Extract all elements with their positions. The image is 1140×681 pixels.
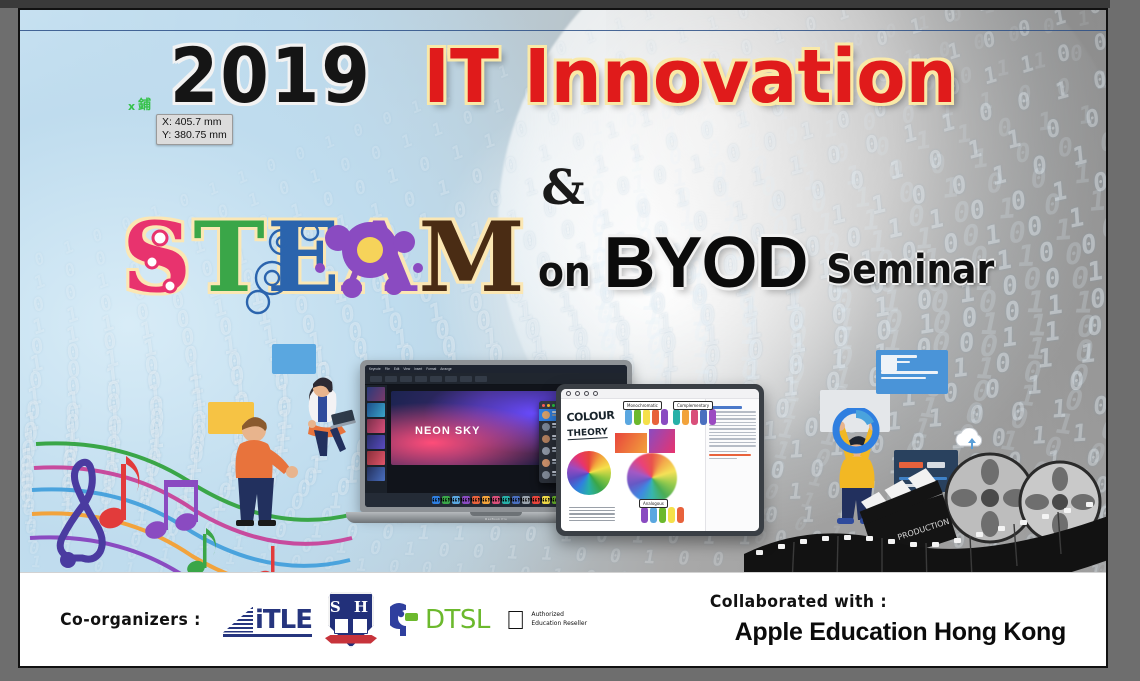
device-group: Keynote File Edit View Insert Format Arr… [338, 348, 778, 558]
reseller-line2: Education Reseller [531, 620, 587, 627]
tooltip-x: X: 405.7 mm [162, 116, 227, 129]
dtsl-label: DTSL [425, 605, 490, 635]
toolbar-icon[interactable] [584, 391, 589, 396]
slide-title: NEON SKY [415, 425, 480, 437]
toolbar-icon[interactable] [566, 391, 571, 396]
note-scribble [569, 507, 615, 523]
mac-menu-arrange: Arrange [440, 367, 451, 371]
co-organizers-label: Co-organizers : [60, 610, 201, 630]
note-callout: Complementary [673, 401, 713, 410]
steam-headline: S T E A M on BYOD Seminar [20, 216, 1106, 300]
collaborated-label: Collaborated with : [709, 592, 1051, 612]
ipad-pro[interactable]: COLOUR THEORY [556, 384, 764, 536]
tablet-frame: COLOUR THEORY [556, 384, 764, 536]
reseller-line1: Authorized [531, 611, 564, 618]
notes-body: COLOUR THEORY [561, 399, 759, 531]
color-wheel-watercolor [627, 453, 677, 503]
crest-ribbon [325, 635, 377, 644]
laptop-model-label: MacBook Pro [485, 517, 507, 521]
coordinate-tooltip: X: 405.7 mm Y: 380.75 mm [156, 114, 233, 145]
mac-menu-view: View [403, 367, 410, 371]
note-title: COLOUR [566, 410, 614, 423]
cursor-char-icon: 鋪 [138, 94, 151, 113]
logo-sh-school-crest[interactable]: S H [328, 592, 374, 648]
headline-main: IT Innovation [423, 44, 956, 111]
apple-icon:  [506, 607, 526, 633]
logo-apple-reseller[interactable]:  Authorized Education Reseller [506, 607, 587, 633]
aitle-mark-icon [223, 607, 253, 633]
toolbar-icon[interactable] [575, 391, 580, 396]
steam-letter-e: E [267, 216, 340, 300]
steam-letter-t: T [193, 216, 264, 300]
dtsl-mark-icon [390, 601, 422, 639]
poster-headline: 2019 IT Innovation [20, 42, 1106, 110]
note-callout: Analogous [639, 499, 668, 508]
canvas-guide-line [20, 30, 1106, 31]
ui-card-blue [876, 350, 948, 394]
steam-letters: S T E A M [122, 216, 525, 300]
card-image-placeholder [881, 355, 897, 371]
logo-aitle[interactable]: iTLE [223, 603, 312, 637]
color-wheel-solid [567, 451, 611, 495]
headline-year: 2019 [170, 42, 372, 110]
tooltip-y: Y: 380.75 mm [162, 129, 227, 142]
apple-reseller-text: Authorized Education Reseller [531, 611, 587, 628]
tablet-screen: COLOUR THEORY [561, 389, 759, 531]
collaboration-group: Collaborated with : Apple Education Hong… [695, 592, 1106, 647]
poster-footer: Co-organizers : iTLE S H [20, 572, 1106, 666]
steam-letter-m: M [418, 216, 524, 300]
laptop-notch [470, 512, 522, 516]
mac-menu-format: Format [426, 367, 436, 371]
crest-initials: S H [328, 598, 374, 616]
note-canvas: COLOUR THEORY [561, 399, 705, 531]
application-window: 0 1 0 0 1 0 1 1 0 0 1 0 0 1 1 0 1 0 0 1 … [0, 0, 1140, 681]
co-organizers-group: Co-organizers : iTLE S H [20, 592, 587, 648]
window-chrome-bottom [0, 667, 1140, 681]
steam-letter-a: A [342, 216, 416, 300]
window-chrome-top [0, 0, 1140, 8]
swatch-strip-top2 [673, 409, 716, 425]
swatch-strip-top [625, 409, 668, 425]
mac-menu-bar: Keynote File Edit View Insert Format Arr… [365, 365, 627, 373]
headline-byod: BYOD [603, 230, 807, 296]
byod-group: on BYOD Seminar [535, 230, 1004, 300]
note-subtitle: THEORY [567, 427, 608, 440]
illustration-man-presenting [216, 408, 298, 533]
headline-on: on [538, 247, 591, 296]
slide-thumbnails [365, 385, 387, 493]
partner-name: Apple Education Hong Kong [735, 618, 1066, 647]
mac-app-name: Keynote [369, 367, 381, 371]
swatch-strip-bottom [641, 507, 684, 523]
mac-menu-file: File [385, 367, 390, 371]
illustration-film-reels: PRODUCTION [742, 446, 1108, 582]
toolbar-icon[interactable] [593, 391, 598, 396]
aitle-label: iTLE [255, 609, 312, 632]
logo-dtsl[interactable]: DTSL [390, 601, 490, 639]
crest-quadrants [334, 618, 368, 634]
note-callout: Monochromatic [623, 401, 662, 410]
cursor-cross-icon: x [128, 100, 135, 113]
poster-canvas[interactable]: 0 1 0 0 1 0 1 1 0 0 1 0 0 1 1 0 1 0 0 1 … [18, 8, 1108, 668]
window-chrome-right [1110, 0, 1140, 681]
mac-menu-edit: Edit [394, 367, 400, 371]
mac-menu-insert: Insert [414, 367, 422, 371]
notes-toolbar [561, 389, 759, 399]
headline-seminar: Seminar [827, 247, 995, 296]
steam-letter-s: S [122, 216, 191, 300]
